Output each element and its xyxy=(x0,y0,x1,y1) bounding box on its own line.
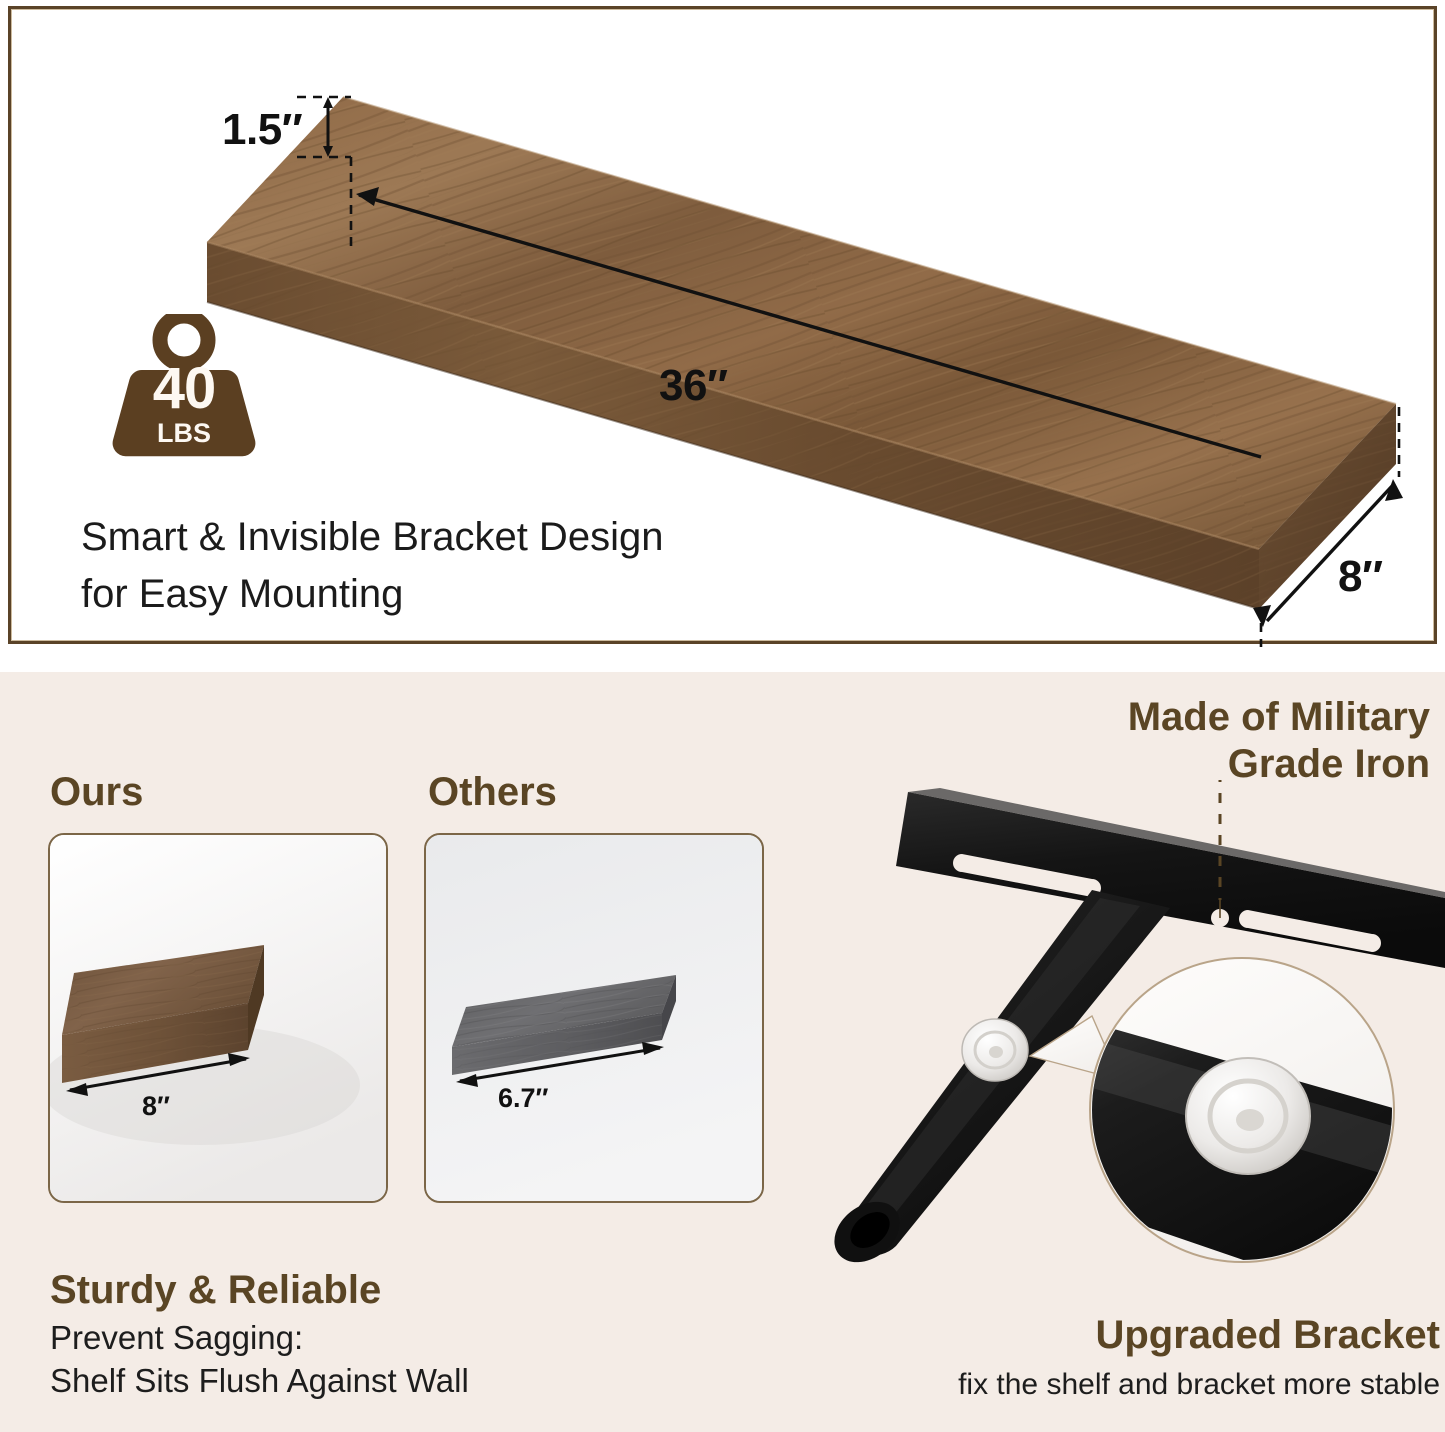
sturdy-line-1: Prevent Sagging: xyxy=(50,1317,670,1360)
sturdy-heading: Sturdy & Reliable xyxy=(50,1268,381,1313)
bracket-svg xyxy=(700,780,1445,1320)
tagline-line-1: Smart & Invisible Bracket Design xyxy=(81,509,901,566)
thickness-dimension-label: 1.5″ xyxy=(222,105,302,155)
iron-heading-line-2: Grade Iron xyxy=(930,741,1430,788)
upgraded-bracket-subtext: fix the shelf and bracket more stable xyxy=(700,1368,1440,1402)
others-depth-label: 6.7″ xyxy=(498,1083,548,1114)
iron-heading-line-1: Made of Military xyxy=(930,694,1430,741)
comparison-label-ours: Ours xyxy=(50,770,143,815)
weight-unit: LBS xyxy=(109,420,259,447)
bracket-illustration xyxy=(700,780,1445,1320)
ours-shelf-illustration xyxy=(50,835,388,1203)
sturdy-subtext: Prevent Sagging: Shelf Sits Flush Agains… xyxy=(50,1317,670,1403)
weight-capacity-badge: 40 LBS xyxy=(109,314,259,459)
tagline-line-2: for Easy Mounting xyxy=(81,566,901,623)
sturdy-line-2: Shelf Sits Flush Against Wall xyxy=(50,1360,670,1403)
product-dimensions-panel: 1.5″ 36″ 8″ 40 LBS Smart & Invisible Bra… xyxy=(8,6,1437,644)
length-dimension-label: 36″ xyxy=(659,361,728,411)
military-iron-heading: Made of Military Grade Iron xyxy=(930,694,1430,788)
screw-cap-icon xyxy=(962,1019,1028,1081)
comparison-label-others: Others xyxy=(428,770,557,815)
comparison-card-ours: 8″ xyxy=(48,833,388,1203)
ours-depth-label: 8″ xyxy=(142,1091,170,1122)
depth-dimension-label: 8″ xyxy=(1338,552,1383,602)
top-tagline: Smart & Invisible Bracket Design for Eas… xyxy=(81,509,901,623)
upgraded-bracket-heading: Upgraded Bracket xyxy=(800,1313,1440,1358)
weight-value: 40 xyxy=(109,360,259,418)
